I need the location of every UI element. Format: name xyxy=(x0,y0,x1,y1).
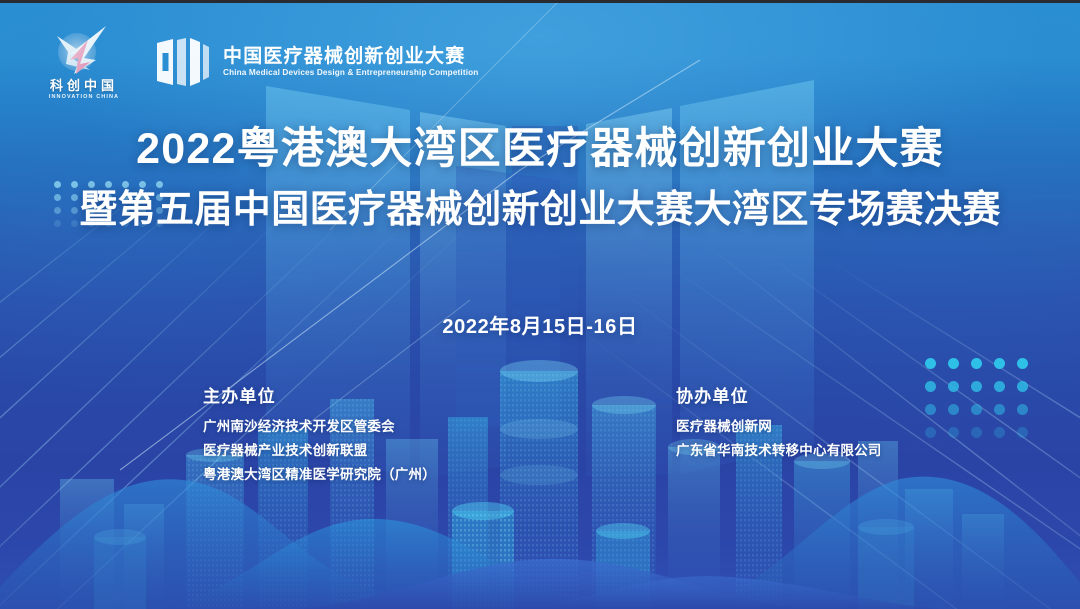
list-item: 广州南沙经济技术开发区管委会 xyxy=(203,418,436,436)
co-organizer-heading: 协办单位 xyxy=(676,388,882,405)
page-title-line2: 暨第五届中国医疗器械创新创业大赛大湾区专场赛决赛 xyxy=(0,188,1080,233)
competition-en-label: China Medical Devices Design & Entrepren… xyxy=(223,69,478,77)
poster-titles: 2022粤港澳大湾区医疗器械创新创业大赛 暨第五届中国医疗器械创新创业大赛大湾区… xyxy=(0,124,1080,233)
innovation-china-en-label: INNOVATION CHINA xyxy=(38,95,130,101)
host-organizer-heading: 主办单位 xyxy=(203,388,436,405)
poster-canvas: 科创中国 INNOVATION CHINA 中国医疗器械创新创业大赛 China… xyxy=(0,0,1080,609)
header-logos: 科创中国 INNOVATION CHINA 中国医疗器械创新创业大赛 China… xyxy=(38,24,478,100)
top-bar xyxy=(0,0,1080,3)
dot-grid-right xyxy=(925,358,1040,450)
competition-cn-label: 中国医疗器械创新创业大赛 xyxy=(223,47,478,66)
host-organizer-block: 主办单位 广州南沙经济技术开发区管委会 医疗器械产业技术创新联盟 粤港澳大湾区精… xyxy=(203,388,436,485)
competition-logo: 中国医疗器械创新创业大赛 China Medical Devices Desig… xyxy=(156,37,478,87)
list-item: 医疗器械创新网 xyxy=(676,418,882,436)
wave-hills-decoration xyxy=(0,459,1080,609)
innovation-china-logo: 科创中国 INNOVATION CHINA xyxy=(38,24,130,100)
host-organizer-list: 广州南沙经济技术开发区管委会 医疗器械产业技术创新联盟 粤港澳大湾区精准医学研究… xyxy=(203,418,436,485)
co-organizer-block: 协办单位 医疗器械创新网 广东省华南技术转移中心有限公司 xyxy=(676,388,882,460)
innovation-china-bird-icon xyxy=(44,24,122,76)
page-title-line1: 2022粤港澳大湾区医疗器械创新创业大赛 xyxy=(0,124,1080,175)
open-door-icon xyxy=(156,37,210,87)
list-item: 医疗器械产业技术创新联盟 xyxy=(203,442,436,460)
co-organizer-list: 医疗器械创新网 广东省华南技术转移中心有限公司 xyxy=(676,418,882,460)
innovation-china-cn-label: 科创中国 xyxy=(38,79,130,92)
event-date: 2022年8月15日-16日 xyxy=(0,310,1080,339)
list-item: 广东省华南技术转移中心有限公司 xyxy=(676,442,882,460)
list-item: 粤港澳大湾区精准医学研究院（广州） xyxy=(203,466,436,484)
